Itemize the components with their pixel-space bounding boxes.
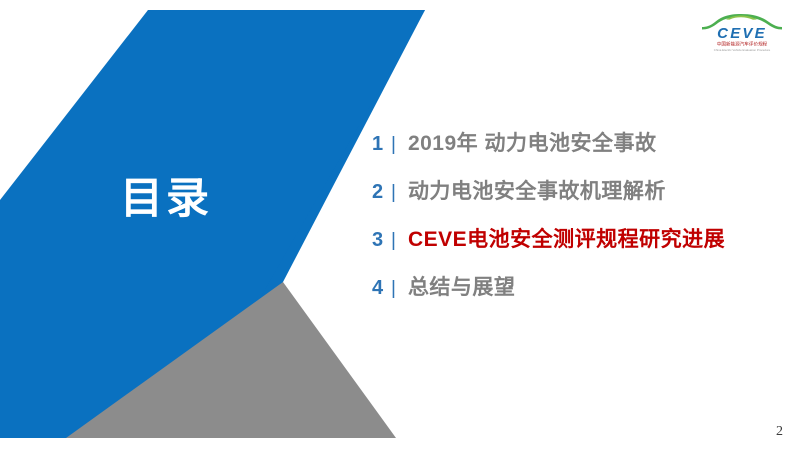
ceve-english-name: China Electric Vehicle Evaluation Proced… [714, 48, 771, 52]
agenda-list: 1 | 2019年 动力电池安全事故 2 | 动力电池安全事故机理解析 3 | … [372, 133, 772, 325]
page-number: 2 [776, 424, 783, 440]
agenda-item-3[interactable]: 3 | CEVE电池安全测评规程研究进展 [372, 229, 772, 277]
agenda-item-2-label: 动力电池安全事故机理解析 [408, 181, 666, 202]
ceve-chinese-name: 中国新能源汽车评价规程 [717, 41, 768, 48]
agenda-item-4[interactable]: 4 | 总结与展望 [372, 277, 772, 325]
agenda-item-3-separator: | [391, 231, 396, 250]
agenda-item-1[interactable]: 1 | 2019年 动力电池安全事故 [372, 133, 772, 181]
agenda-item-3-label: CEVE电池安全测评规程研究进展 [408, 229, 725, 250]
agenda-item-2[interactable]: 2 | 动力电池安全事故机理解析 [372, 181, 772, 229]
agenda-item-2-index: 2 [372, 182, 386, 202]
agenda-item-4-index: 4 [372, 278, 386, 298]
agenda-item-1-label: 2019年 动力电池安全事故 [408, 133, 657, 154]
agenda-item-4-separator: | [391, 279, 396, 298]
presentation-slide: 目录 1 | 2019年 动力电池安全事故 2 | 动力电池安全事故机理解析 3… [0, 0, 800, 450]
ceve-logo: CEVE 中国新能源汽车评价规程 China Electric Vehicle … [696, 6, 788, 54]
agenda-item-1-index: 1 [372, 134, 386, 154]
page-title-text: 目录 [120, 178, 212, 221]
agenda-item-1-separator: | [391, 135, 396, 154]
agenda-item-2-separator: | [391, 183, 396, 202]
page-title: 目录 [120, 168, 350, 230]
ceve-logo-svg: CEVE 中国新能源汽车评价规程 China Electric Vehicle … [696, 6, 788, 54]
agenda-item-3-index: 3 [372, 230, 386, 250]
agenda-item-4-label: 总结与展望 [408, 277, 516, 298]
ceve-wordmark: CEVE [717, 25, 767, 42]
